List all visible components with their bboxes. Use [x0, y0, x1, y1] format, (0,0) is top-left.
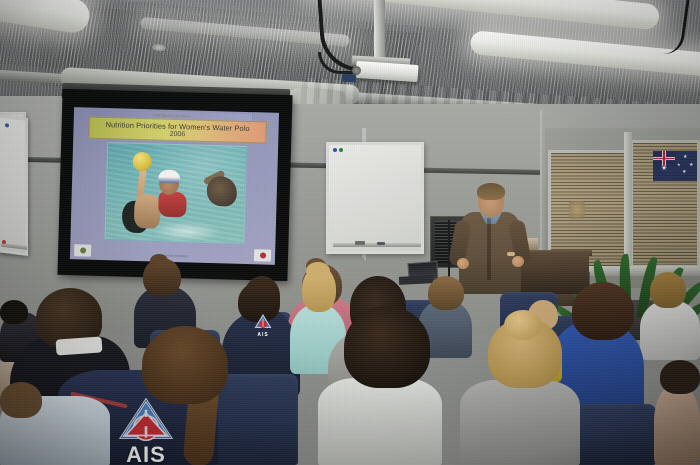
australian-flag-icon: ★ ★ ★ ★ ★ [653, 151, 697, 181]
projected-slide: AIS Sports Nutrition Nutrition Prioritie… [70, 107, 279, 265]
audience-hair [0, 382, 42, 418]
window-pane-right: ★ ★ ★ ★ ★ [630, 140, 700, 268]
projector-mount-pole [374, 0, 385, 60]
presenter-hair [477, 183, 505, 200]
ais-logo: AIS [252, 314, 274, 338]
collar-white [55, 336, 102, 355]
audience-garment-hoodie [318, 378, 442, 465]
audience-hair [428, 276, 464, 310]
audience-hair [572, 282, 634, 340]
presenter-watch-icon [507, 252, 515, 256]
presenter-hand-right [512, 256, 524, 267]
audience-garment [640, 300, 700, 360]
ais-emblem-icon [100, 398, 192, 444]
audience-hair-bun [504, 310, 542, 340]
whiteboard-marker-icon [2, 240, 6, 244]
whiteboard-eraser-icon [355, 241, 365, 245]
window-mullion [624, 132, 632, 272]
slide-logo-right [254, 249, 271, 261]
ais-logo-large: AIS [100, 398, 192, 462]
slide-footer-text: AIS Sports Nutrition [70, 251, 275, 261]
ais-logo-text: AIS [252, 332, 274, 338]
audience-garment [654, 384, 700, 465]
audience-hair [660, 360, 700, 394]
whiteboard-left-angled [0, 114, 28, 256]
audience-hair-bun [150, 254, 168, 268]
slide-logo-left [74, 244, 91, 256]
projection-screen[interactable]: AIS Sports Nutrition Nutrition Prioritie… [57, 89, 292, 281]
projector-connector [342, 74, 357, 83]
wall-plaque [569, 201, 585, 219]
flag-union-jack [653, 151, 675, 166]
audience-hair [650, 272, 686, 308]
wall-seam [540, 110, 542, 260]
slide-title-band: Nutrition Priorities for Women's Water P… [88, 117, 267, 144]
whiteboard-magnet-icon [333, 148, 337, 152]
lecture-room-photo: ★ ★ ★ ★ ★ AIS Sports Nutrition Nutrition… [0, 0, 700, 465]
presenter-shirt-placket [487, 218, 491, 280]
audience-hair [142, 326, 228, 404]
ais-logo-text: AIS [100, 442, 192, 465]
water-polo-swimsuit [158, 192, 187, 218]
slide-photo-water-polo [104, 142, 247, 244]
presenter-hand-left [457, 258, 469, 269]
ais-emblem-icon [252, 314, 274, 331]
audience-hair [0, 300, 28, 324]
audience-hair-top [306, 262, 330, 280]
whiteboard-marker-icon [377, 242, 385, 245]
water-polo-cap-icon [158, 170, 180, 184]
whiteboard-magnet-icon [339, 148, 343, 152]
water-splash [151, 220, 222, 242]
whiteboard-main [326, 142, 424, 254]
audience-hair [344, 306, 430, 388]
audience-garment-sweatshirt [460, 380, 580, 465]
whiteboard-magnet-icon [5, 123, 9, 127]
slide-title-line2: 2006 [170, 131, 186, 138]
